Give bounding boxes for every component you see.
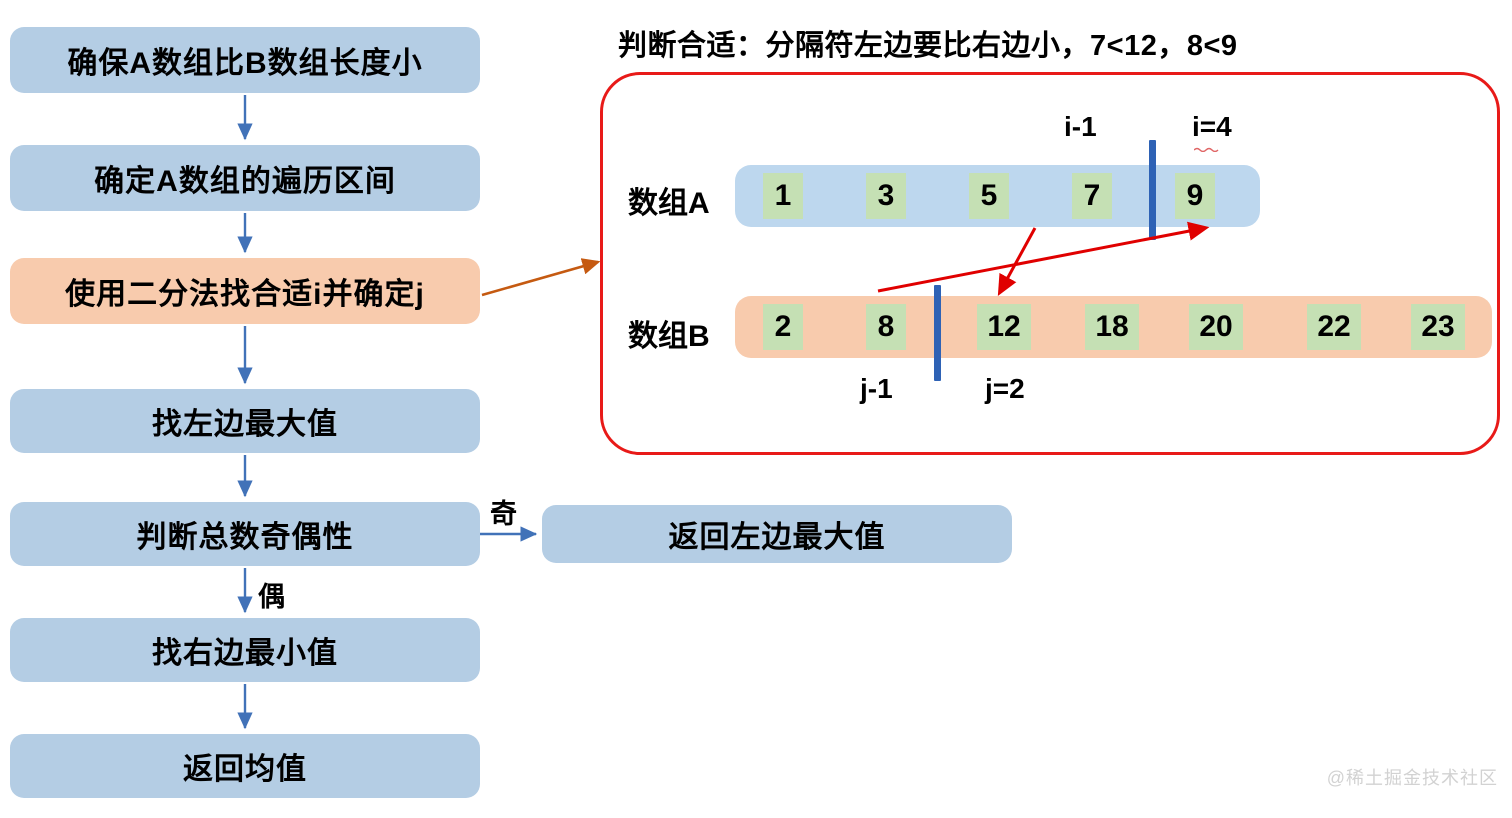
edge-label-even: 偶	[258, 575, 285, 614]
flow-node-find-left-max: 找左边最大值	[10, 389, 480, 453]
partition-divider-a	[1149, 140, 1156, 240]
array-cell: 20	[1189, 304, 1243, 350]
flow-node-label: 找右边最小值	[152, 628, 338, 672]
array-cell: 22	[1307, 304, 1361, 350]
flow-node-label: 找左边最大值	[152, 399, 338, 443]
flow-node-ensure-a-shorter: 确保A数组比B数组长度小	[10, 27, 480, 93]
watermark: @稀土掘金技术社区	[1327, 764, 1498, 790]
index-label-i: i=4	[1192, 111, 1232, 143]
flow-node-label: 确定A数组的遍历区间	[94, 156, 396, 200]
flow-node-return-left-max: 返回左边最大值	[542, 505, 1012, 563]
index-label-j: j=2	[985, 373, 1025, 405]
array-cell: 18	[1085, 304, 1139, 350]
diagram-frame	[600, 72, 1500, 455]
flow-node-label: 返回左边最大值	[669, 512, 886, 556]
array-a-band: 13579	[735, 165, 1260, 227]
flow-node-determine-range: 确定A数组的遍历区间	[10, 145, 480, 211]
partition-divider-b	[934, 285, 941, 381]
flow-node-check-parity: 判断总数奇偶性	[10, 502, 480, 566]
array-a-label: 数组A	[628, 178, 710, 222]
flow-node-label: 使用二分法找合适i并确定j	[65, 269, 425, 313]
array-cell: 12	[977, 304, 1031, 350]
flow-node-label: 返回均值	[183, 744, 307, 788]
flow-node-return-average: 返回均值	[10, 734, 480, 798]
array-cell: 9	[1175, 173, 1215, 219]
flow-node-binary-search-i: 使用二分法找合适i并确定j	[10, 258, 480, 324]
index-label-j-minus-1: j-1	[860, 373, 893, 405]
flow-node-label: 确保A数组比B数组长度小	[67, 38, 422, 82]
connector-arrow-to-diagram	[482, 262, 598, 295]
array-cell: 8	[866, 304, 906, 350]
diagram-title: 判断合适：分隔符左边要比右边小，7<12，8<9	[618, 22, 1238, 64]
flow-node-label: 判断总数奇偶性	[137, 512, 354, 556]
spellcheck-squiggle-icon	[1194, 146, 1220, 152]
array-cell: 5	[969, 173, 1009, 219]
array-cell: 2	[763, 304, 803, 350]
array-cell: 1	[763, 173, 803, 219]
array-cell: 3	[866, 173, 906, 219]
array-cell: 7	[1072, 173, 1112, 219]
edge-label-odd: 奇	[490, 492, 517, 531]
index-label-i-minus-1: i-1	[1064, 111, 1097, 143]
diagram-canvas: 确保A数组比B数组长度小 确定A数组的遍历区间 使用二分法找合适i并确定j 找左…	[0, 0, 1512, 818]
flow-node-find-right-min: 找右边最小值	[10, 618, 480, 682]
array-cell: 23	[1411, 304, 1465, 350]
array-b-label: 数组B	[628, 311, 710, 355]
array-b-band: 281218202223	[735, 296, 1492, 358]
